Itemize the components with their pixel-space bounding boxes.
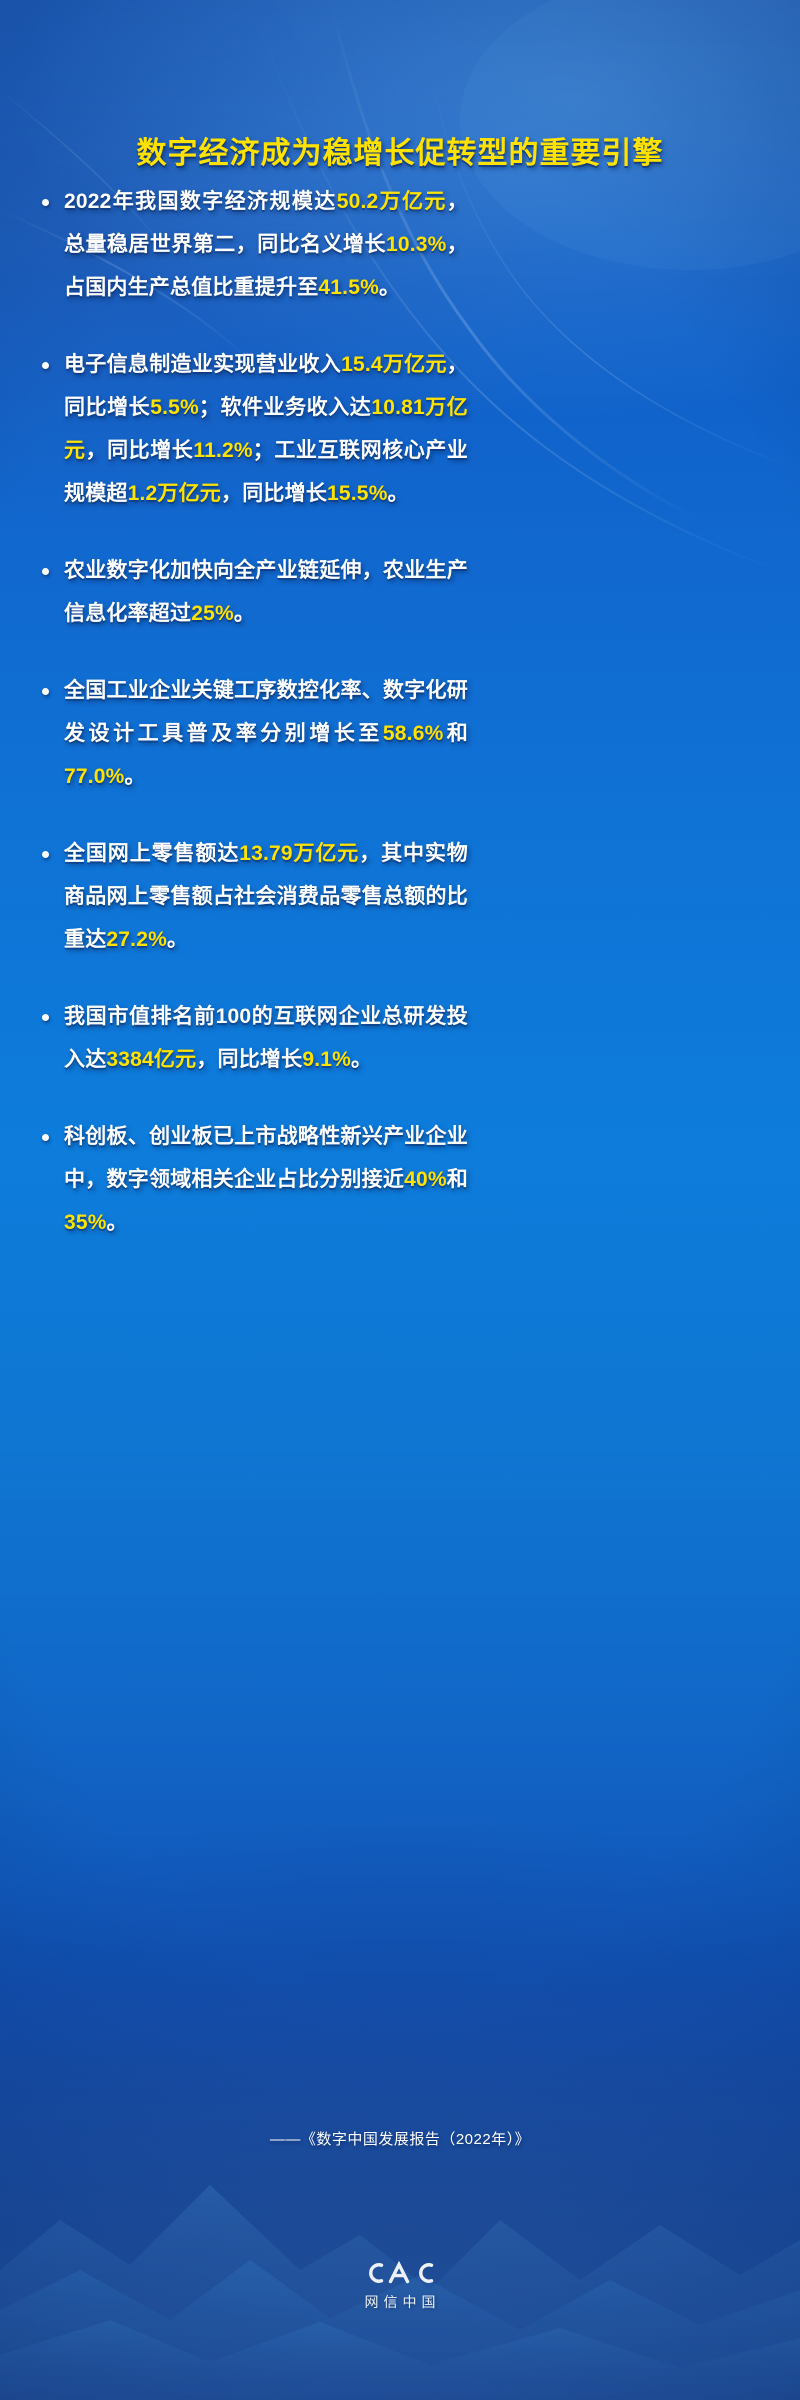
highlight-value: 15.4万亿元: [341, 353, 447, 376]
source-citation: ——《数字中国发展报告（2022年）》: [0, 2128, 800, 2149]
bullet-text: 。: [388, 482, 409, 505]
cac-logo-text: 网信中国: [360, 2292, 441, 2312]
bullet-text: 农业数字化加快向全产业链延伸，农业生产信息化率超过: [64, 559, 468, 625]
bullet-item-top100-internet-rd-investment: 我国市值排名前100的互联网企业总研发投入达3384亿元，同比增长9.1%。: [38, 995, 468, 1081]
bullet-item-electronics-software-industrial-internet: 电子信息制造业实现营业收入15.4万亿元，同比增长5.5%；软件业务收入达10.…: [38, 343, 468, 515]
bullet-item-star-market-chinext-digital-share: 科创板、创业板已上市战略性新兴产业企业中，数字领域相关企业占比分别接近40%和3…: [38, 1115, 468, 1244]
highlight-value: 1.2万亿元: [128, 482, 221, 505]
bullet-text: ，同比增长: [196, 1048, 302, 1071]
bullet-text: 和: [447, 1168, 468, 1191]
highlight-value: 58.6%: [383, 722, 444, 745]
highlight-value: 10.3%: [386, 233, 447, 256]
bullet-list: 2022年我国数字经济规模达50.2万亿元，总量稳居世界第二，同比名义增长10.…: [38, 180, 468, 1278]
bullet-item-industrial-enterprises-digital-rates: 全国工业企业关键工序数控化率、数字化研发设计工具普及率分别增长至58.6%和77…: [38, 669, 468, 798]
highlight-value: 3384亿元: [106, 1048, 196, 1071]
highlight-value: 41.5%: [318, 276, 379, 299]
highlight-value: 15.5%: [327, 482, 388, 505]
highlight-value: 40%: [404, 1168, 447, 1191]
highlight-value: 9.1%: [302, 1048, 351, 1071]
infographic-poster: 数字经济成为稳增长促转型的重要引擎 2022年我国数字经济规模达50.2万亿元，…: [0, 0, 800, 2400]
page-title: 数字经济成为稳增长促转型的重要引擎: [0, 128, 800, 172]
bullet-item-online-retail-sales: 全国网上零售额达13.79万亿元，其中实物商品网上零售额占社会消费品零售总额的比…: [38, 832, 468, 961]
bullet-text: 电子信息制造业实现营业收入: [64, 353, 341, 376]
highlight-value: 13.79万亿元: [239, 842, 359, 865]
bullet-text: 。: [107, 1211, 128, 1234]
bullet-text: 2022年我国数字经济规模达: [64, 190, 337, 213]
bullet-text: ，同比增长: [86, 439, 194, 462]
highlight-value: 27.2%: [106, 928, 167, 951]
cac-logo: 网信中国: [0, 2258, 800, 2312]
bullet-text: 和: [443, 722, 468, 745]
bullet-text: 。: [234, 602, 255, 625]
poster-content: 数字经济成为稳增长促转型的重要引擎 2022年我国数字经济规模达50.2万亿元，…: [0, 0, 800, 2400]
highlight-value: 77.0%: [64, 765, 125, 788]
bullet-item-agriculture-digitalization: 农业数字化加快向全产业链延伸，农业生产信息化率超过25%。: [38, 549, 468, 635]
bullet-text: 。: [125, 765, 146, 788]
cac-logo-mark: [363, 2258, 437, 2288]
bullet-text: 。: [351, 1048, 372, 1071]
bullet-text: 。: [379, 276, 400, 299]
highlight-value: 50.2万亿元: [337, 190, 447, 213]
highlight-value: 11.2%: [193, 439, 252, 462]
highlight-value: 25%: [191, 602, 234, 625]
highlight-value: 35%: [64, 1211, 107, 1234]
bullet-text: ，同比增长: [221, 482, 327, 505]
bullet-text: ；软件业务收入达: [199, 396, 371, 419]
bullet-item-digital-economy-scale: 2022年我国数字经济规模达50.2万亿元，总量稳居世界第二，同比名义增长10.…: [38, 180, 468, 309]
highlight-value: 5.5%: [150, 396, 199, 419]
bullet-text: 。: [167, 928, 188, 951]
bullet-text: 全国网上零售额达: [64, 842, 239, 865]
